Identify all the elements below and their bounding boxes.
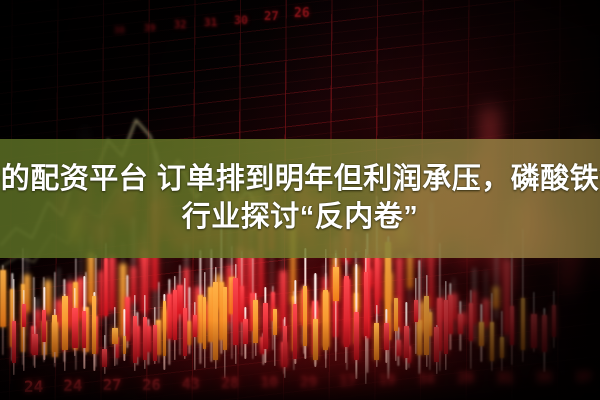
headline-line-1: 好的配资平台 订单排到明年但利润承压，磷酸铁锂: [0, 164, 600, 195]
headline-band: 好的配资平台 订单排到明年但利润承压，磷酸铁锂 行业探讨“反内卷”: [0, 139, 600, 258]
thumbnail-image: 38393231302726 2424272643281029171934293…: [0, 0, 600, 400]
headline-line-2: 行业探讨“反内卷”: [182, 202, 419, 233]
